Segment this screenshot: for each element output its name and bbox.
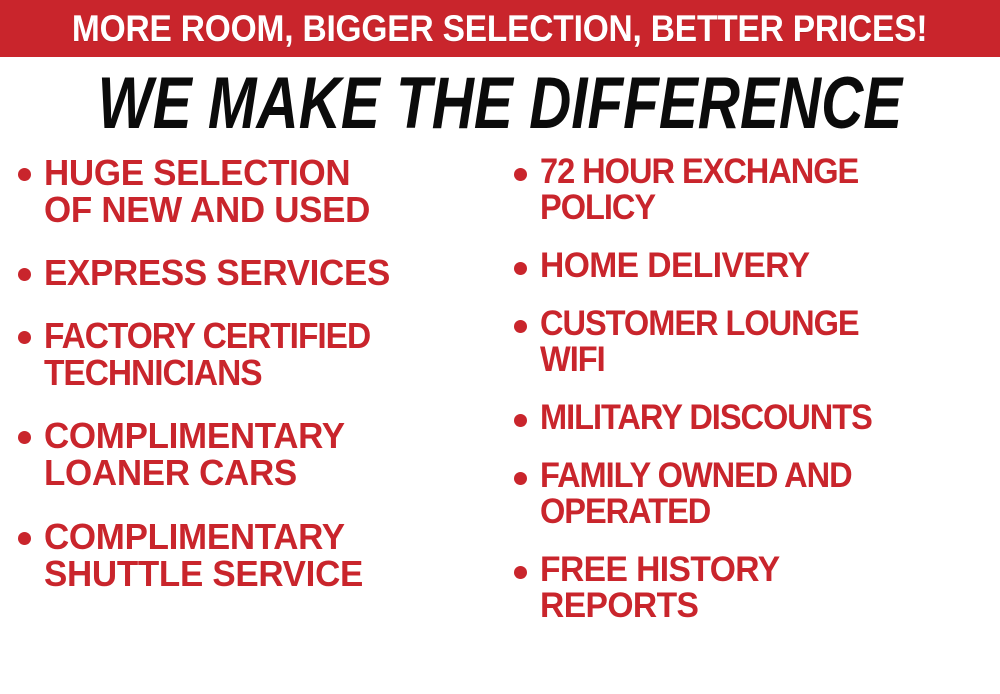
list-item-label: FREE HISTORY REPORTS <box>540 552 780 624</box>
list-item: 72 HOUR EXCHANGE POLICY <box>514 154 1000 226</box>
list-item-label: CUSTOMER LOUNGE WIFI <box>540 306 859 378</box>
bullet-dot-icon <box>514 320 527 333</box>
list-item-label: EXPRESS SERVICES <box>44 254 390 291</box>
top-banner: MORE ROOM, BIGGER SELECTION, BETTER PRIC… <box>0 0 1000 57</box>
bullet-dot-icon <box>514 262 527 275</box>
benefits-column-right: 72 HOUR EXCHANGE POLICY HOME DELIVERY CU… <box>500 154 1000 624</box>
list-item: FAMILY OWNED AND OPERATED <box>514 458 1000 530</box>
banner-headline: MORE ROOM, BIGGER SELECTION, BETTER PRIC… <box>72 10 927 47</box>
bullet-dot-icon <box>18 431 31 444</box>
list-item: EXPRESS SERVICES <box>18 254 496 291</box>
list-item: COMPLIMENTARY SHUTTLE SERVICE <box>18 518 496 592</box>
list-item-label: 72 HOUR EXCHANGE POLICY <box>540 154 858 226</box>
list-item-label: COMPLIMENTARY LOANER CARS <box>44 417 345 491</box>
bullet-dot-icon <box>18 331 31 344</box>
page-title-text: WE MAKE THE DIFFERENCE <box>98 67 903 140</box>
dealership-benefits-poster: MORE ROOM, BIGGER SELECTION, BETTER PRIC… <box>0 0 1000 694</box>
bullet-dot-icon <box>18 168 31 181</box>
benefits-columns: HUGE SELECTION OF NEW AND USED EXPRESS S… <box>0 154 1000 694</box>
bullet-dot-icon <box>514 414 527 427</box>
list-item: CUSTOMER LOUNGE WIFI <box>514 306 1000 378</box>
bullet-dot-icon <box>18 532 31 545</box>
bullet-dot-icon <box>514 472 527 485</box>
bullet-dot-icon <box>514 566 527 579</box>
list-item-label: MILITARY DISCOUNTS <box>540 400 872 436</box>
list-item: FREE HISTORY REPORTS <box>514 552 1000 624</box>
list-item: COMPLIMENTARY LOANER CARS <box>18 417 496 491</box>
list-item-label: FAMILY OWNED AND OPERATED <box>540 458 852 530</box>
list-item: FACTORY CERTIFIED TECHNICIANS <box>18 317 496 391</box>
list-item-label: FACTORY CERTIFIED TECHNICIANS <box>44 317 370 391</box>
bullet-dot-icon <box>514 168 527 181</box>
list-item: MILITARY DISCOUNTS <box>514 400 1000 436</box>
list-item-label: COMPLIMENTARY SHUTTLE SERVICE <box>44 518 363 592</box>
bullet-dot-icon <box>18 268 31 281</box>
list-item-label: HOME DELIVERY <box>540 248 809 284</box>
benefits-column-left: HUGE SELECTION OF NEW AND USED EXPRESS S… <box>0 154 500 592</box>
list-item-label: HUGE SELECTION OF NEW AND USED <box>44 154 370 228</box>
list-item: HOME DELIVERY <box>514 248 1000 284</box>
list-item: HUGE SELECTION OF NEW AND USED <box>18 154 496 228</box>
page-title: WE MAKE THE DIFFERENCE <box>0 62 1000 144</box>
